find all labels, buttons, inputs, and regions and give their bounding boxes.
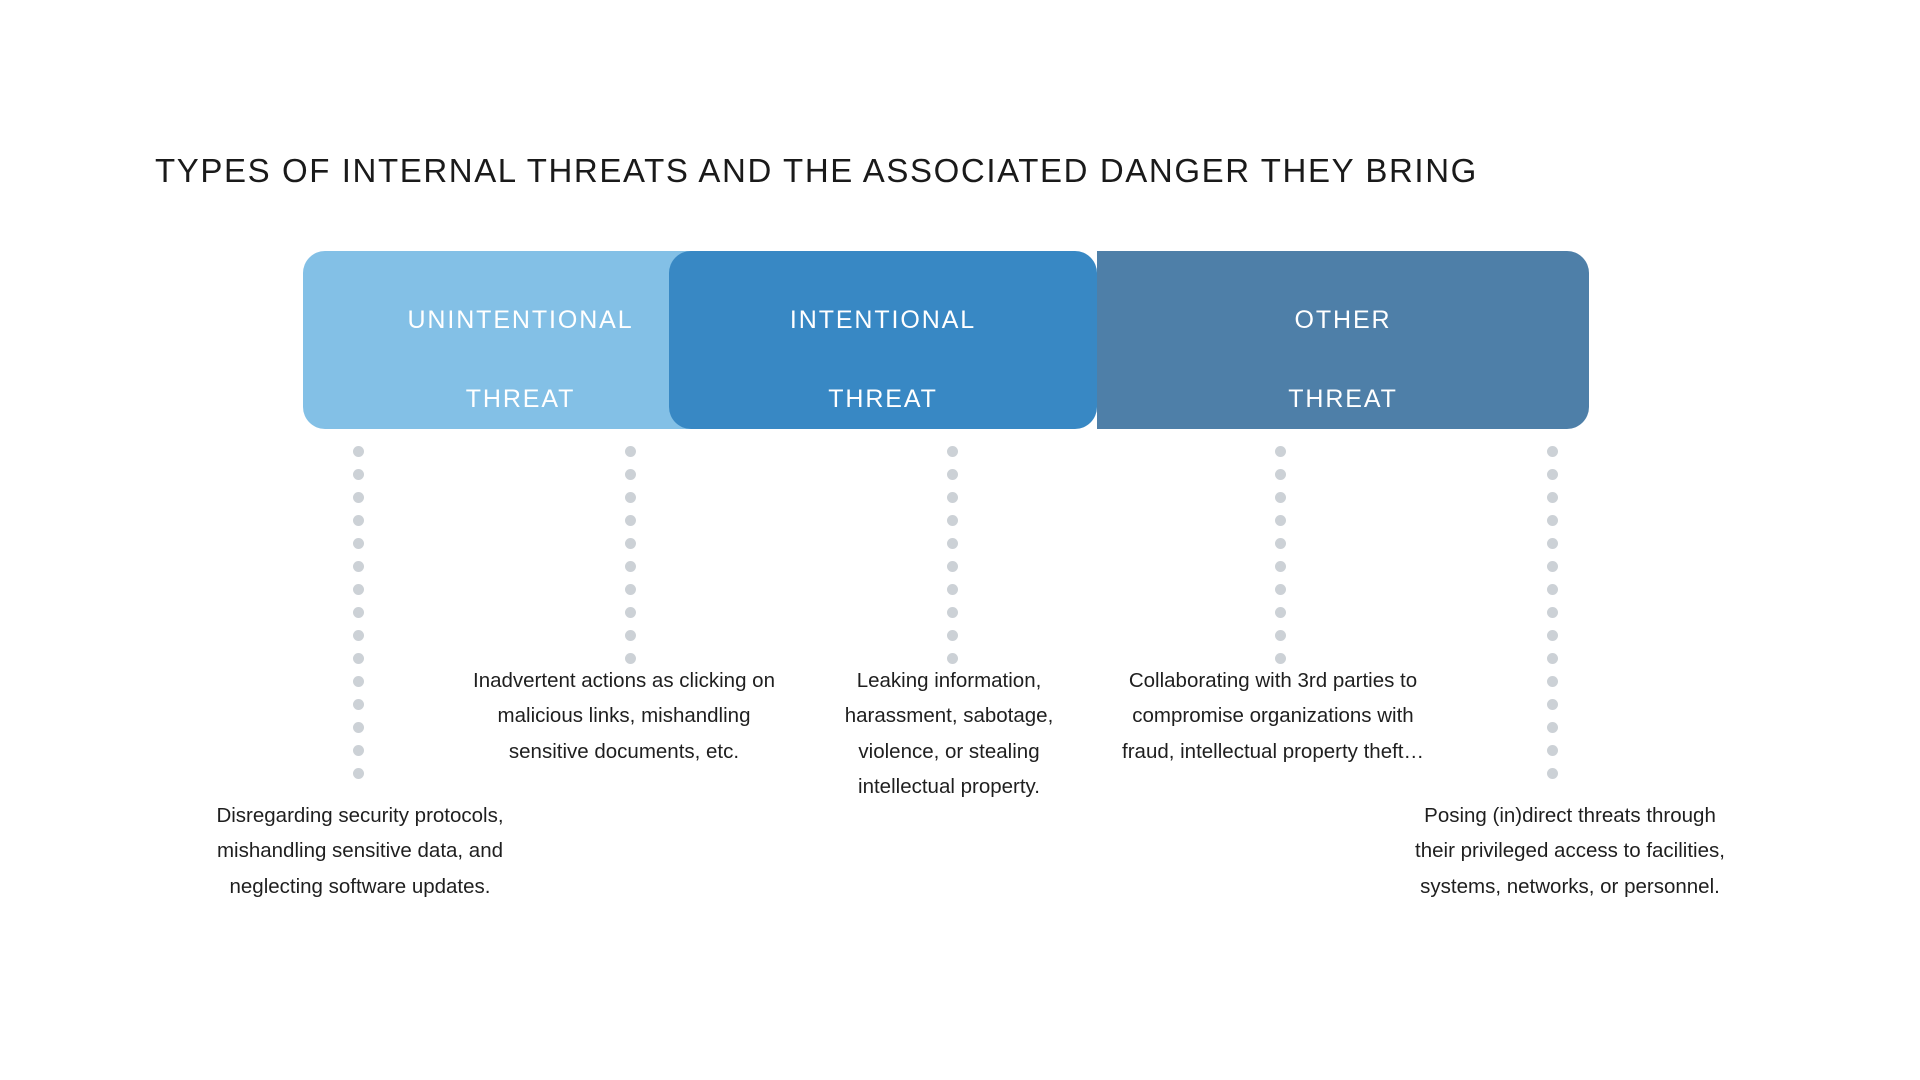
description-collaborating-third-parties: Collaborating with 3rd parties to compro… [1108,663,1438,769]
connector-dot [1547,607,1558,618]
description-leaking-information: Leaking information, harassment, sabotag… [820,663,1078,804]
connector-dot [353,722,364,733]
connector-dot [625,630,636,641]
connector-dot [1275,446,1286,457]
connector-dot [947,515,958,526]
description-disregarding-security: Disregarding security protocols, mishand… [190,798,530,904]
panel-other-threat-line1: OTHER [1294,306,1391,334]
connector-dot [1275,492,1286,503]
connector-dot [947,492,958,503]
connector-dot [353,469,364,480]
connector-dot [353,699,364,710]
connector-dot [1275,561,1286,572]
connector-dot [1547,699,1558,710]
connector-dot [353,768,364,779]
connector-dot [1547,446,1558,457]
connector-dot [353,653,364,664]
connector-dot [1547,722,1558,733]
panel-unintentional-threat-line2: THREAT [466,385,576,413]
connector-dot [1275,515,1286,526]
connector-line-2 [625,446,636,664]
connector-dot [353,584,364,595]
connector-dot [625,469,636,480]
connector-dot [625,561,636,572]
connector-line-4 [1275,446,1286,664]
connector-dot [353,630,364,641]
connector-dot [353,538,364,549]
connector-dot [1547,676,1558,687]
page-title: TYPES OF INTERNAL THREATS AND THE ASSOCI… [155,152,1795,190]
connector-dot [1547,515,1558,526]
panel-intentional-threat[interactable]: INTENTIONAL THREAT [669,251,1097,429]
connector-dot [1547,469,1558,480]
description-inadvertent-actions: Inadvertent actions as clicking on malic… [464,663,784,769]
connector-line-1 [353,446,364,779]
connector-dot [353,607,364,618]
panel-other-threat[interactable]: OTHER THREAT [1097,251,1589,429]
connector-dot [1275,607,1286,618]
connector-dot [1275,469,1286,480]
connector-dot [1547,768,1558,779]
description-posing-indirect-threats: Posing (in)direct threats through their … [1410,798,1730,904]
connector-dot [947,469,958,480]
connector-dot [1275,584,1286,595]
connector-dot [353,446,364,457]
connector-dot [353,676,364,687]
connector-dot [947,630,958,641]
panel-unintentional-threat-line1: UNINTENTIONAL [407,306,633,334]
connector-dot [1275,538,1286,549]
connector-dot [1547,745,1558,756]
connector-dot [625,492,636,503]
connector-dot [353,745,364,756]
connector-dot [625,515,636,526]
connector-dot [353,515,364,526]
panel-other-threat-label: OTHER THREAT [1288,261,1398,419]
panel-intentional-threat-label: INTENTIONAL THREAT [790,261,976,419]
connector-dot [1275,630,1286,641]
connector-dot [1547,538,1558,549]
connector-dot [947,584,958,595]
connector-dot [1547,630,1558,641]
connector-dot [947,561,958,572]
connector-dot [353,561,364,572]
connector-dot [947,446,958,457]
connector-dot [353,492,364,503]
connector-dot [947,538,958,549]
connector-line-3 [947,446,958,664]
panel-intentional-threat-line2: THREAT [828,385,938,413]
infographic-canvas: TYPES OF INTERNAL THREATS AND THE ASSOCI… [0,0,1920,1080]
connector-dot [1547,653,1558,664]
connector-dot [625,538,636,549]
panel-other-threat-line2: THREAT [1288,385,1398,413]
connector-dot [1547,584,1558,595]
connector-dot [1547,492,1558,503]
threat-type-banner: UNINTENTIONAL THREAT INTENTIONAL THREAT … [303,251,1589,429]
panel-unintentional-threat-label: UNINTENTIONAL THREAT [407,261,633,419]
panel-intentional-threat-line1: INTENTIONAL [790,306,976,334]
connector-line-5 [1547,446,1558,779]
connector-dot [625,607,636,618]
connector-dot [625,446,636,457]
connector-dot [625,584,636,595]
connector-dot [1547,561,1558,572]
connector-dot [947,607,958,618]
